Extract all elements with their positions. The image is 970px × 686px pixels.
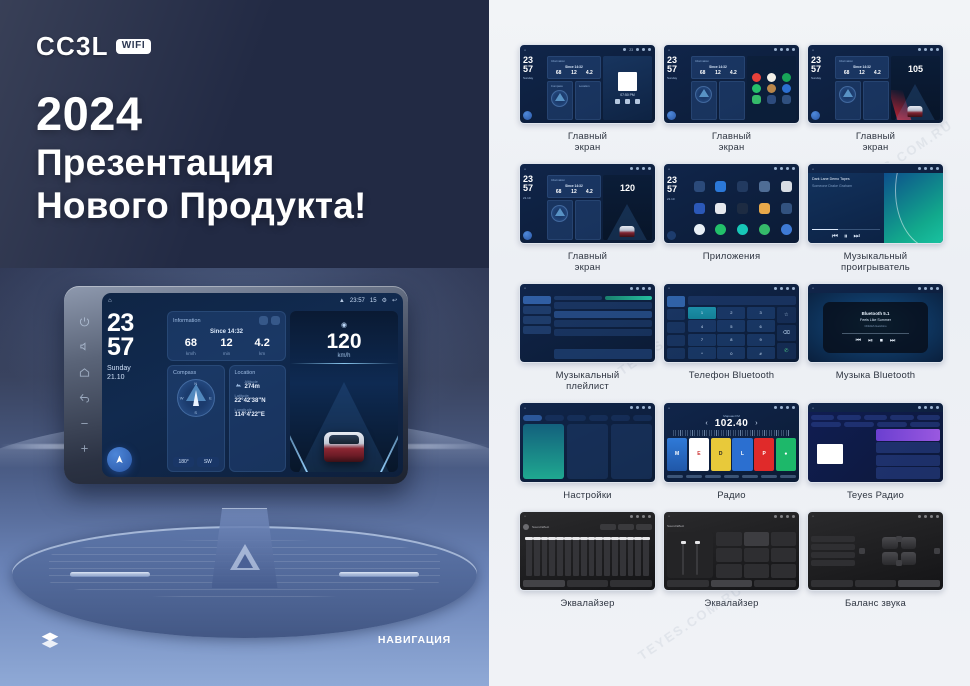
mini-compass bbox=[551, 90, 568, 107]
app-icon-chrome[interactable] bbox=[767, 73, 776, 82]
mini-transport-controls[interactable] bbox=[615, 99, 640, 104]
list-item bbox=[554, 302, 652, 309]
mini-info-title: Information bbox=[551, 59, 597, 63]
equalizer-header: Sound Effect bbox=[667, 524, 796, 528]
mini-stat-3: 4.2 bbox=[582, 189, 597, 195]
key-4[interactable]: 4 bbox=[688, 320, 716, 332]
key-7[interactable]: 7 bbox=[688, 334, 716, 346]
mini-stat-3: 4.2 bbox=[726, 70, 741, 76]
player-controls[interactable]: ⏮ ⏸ ⏭ bbox=[808, 233, 884, 241]
thumbnail-image[interactable]: ⌂ Bluetooth 5.1 Feels Like Summer Childi… bbox=[807, 283, 944, 363]
equalizer-header: Sound Effect bbox=[523, 524, 652, 530]
band-slider bbox=[643, 537, 649, 576]
equalizer-tabs[interactable] bbox=[667, 580, 796, 587]
mini-since: Since 14:32 bbox=[695, 65, 741, 69]
sidebar-item-artists bbox=[523, 316, 551, 324]
mini-info-title: Information bbox=[695, 59, 741, 63]
mountain-icon bbox=[235, 381, 242, 388]
dialpad[interactable]: 123 456 789 *0# bbox=[688, 307, 775, 359]
thumbnail-image[interactable]: ⌂ Sound Effect bbox=[663, 511, 800, 591]
mini-clock: 23 bbox=[629, 48, 633, 52]
mini-nav-fab[interactable] bbox=[667, 111, 676, 120]
compass-direction: SW bbox=[197, 457, 218, 467]
status-home-icon[interactable]: ⌂ bbox=[108, 298, 112, 304]
product-logo: CC3L WIFI bbox=[36, 33, 151, 59]
location-longitude-row: Longitude 114°4'22"E bbox=[235, 407, 281, 418]
thumb-bluetooth-music[interactable]: ⌂ Bluetooth 5.1 Feels Like Summer Childi… bbox=[807, 283, 944, 392]
thumbnail-label: Эквалайзер bbox=[560, 598, 614, 609]
play-pause-icon[interactable]: ⏯ bbox=[868, 338, 873, 345]
now-playing-bar[interactable] bbox=[554, 349, 652, 359]
location-card-title: Location bbox=[235, 370, 256, 376]
thumb-music-player[interactable]: ⌂ Dark Lane Demo Tapes Someone Drake Gra… bbox=[807, 163, 944, 272]
radio-tuning-scale[interactable] bbox=[673, 430, 790, 436]
thumb-equalizer-presets[interactable]: ⌂ Sound Effect bbox=[663, 511, 800, 609]
information-card-title: Information bbox=[173, 318, 201, 324]
tab-fader bbox=[754, 580, 796, 587]
tile-wlan bbox=[523, 424, 564, 478]
car-3d-model bbox=[620, 226, 635, 237]
app-icon-wifi[interactable] bbox=[694, 181, 705, 192]
speed-value: 120 bbox=[326, 331, 361, 352]
app-icon-file-manager[interactable] bbox=[759, 203, 770, 214]
thumb-teyes-radio[interactable]: ⌂ Teyes Радио bbox=[807, 402, 944, 500]
thumb-home-screen-road[interactable]: ⌂ 23 57 Sunday Information Since 14:32 6… bbox=[807, 44, 944, 153]
phone-number-field[interactable] bbox=[688, 296, 796, 305]
mini-compass bbox=[839, 86, 856, 103]
effect-presets[interactable] bbox=[716, 532, 796, 578]
balance-up-icon[interactable] bbox=[896, 536, 902, 542]
mini-compass bbox=[551, 205, 568, 222]
speed-widget[interactable]: ◉ 120 km/h bbox=[290, 311, 398, 472]
bluetooth-panel: Bluetooth 5.1 Feels Like Summer Childish… bbox=[823, 302, 928, 353]
preset-classic[interactable] bbox=[716, 548, 741, 562]
information-refresh-icon[interactable] bbox=[259, 316, 268, 325]
mini-speed-value: 120 bbox=[620, 183, 635, 193]
clock-day: Sunday bbox=[107, 365, 163, 374]
key-6[interactable]: 6 bbox=[747, 320, 775, 332]
logo-model: CC3L bbox=[36, 33, 109, 59]
status-gear-icon[interactable]: ⚙ bbox=[382, 297, 387, 304]
band-slider bbox=[526, 537, 532, 576]
teyes-sub-nav[interactable] bbox=[811, 422, 940, 427]
prev-station-icon[interactable]: ‹ bbox=[705, 420, 707, 427]
balance-down-icon[interactable] bbox=[896, 560, 902, 566]
sidebar-item-dialpad bbox=[667, 296, 685, 307]
band-slider bbox=[573, 537, 579, 576]
key-9[interactable]: 9 bbox=[747, 334, 775, 346]
fader bbox=[682, 541, 684, 575]
pause-icon[interactable]: ⏸ bbox=[844, 233, 848, 241]
thumbnail-label: Приложения bbox=[703, 251, 761, 262]
player-track-title: Dark Lane Demo Tapes bbox=[812, 177, 880, 181]
mini-day: Sunday bbox=[667, 76, 689, 80]
balance-pad[interactable] bbox=[859, 537, 940, 565]
band-slider bbox=[549, 537, 555, 576]
location-card[interactable]: Location Altitude 274m Latitude bbox=[229, 365, 287, 472]
thumbnail-image[interactable]: ⌂ 23 57 21.10 Information Since 14:32 68… bbox=[519, 163, 656, 243]
favorite-icon[interactable]: ☆ bbox=[777, 307, 796, 323]
thumbnail-label: Баланс звука bbox=[845, 598, 906, 609]
app-icon-contacts[interactable] bbox=[715, 203, 726, 214]
thumbnail-label: Главный экран bbox=[568, 251, 607, 273]
navigation-arrow-icon bbox=[114, 454, 125, 465]
list-item bbox=[554, 329, 652, 336]
mini-since: Since 14:32 bbox=[551, 184, 597, 188]
thumbnail-label: Музыкальный плейлист bbox=[556, 370, 620, 392]
speed-icon: ◉ bbox=[341, 321, 347, 329]
information-card[interactable]: Information Since 14:32 68 km/h bbox=[167, 311, 286, 361]
app-icon-contacts[interactable] bbox=[767, 84, 776, 93]
key-2[interactable]: 2 bbox=[717, 307, 745, 319]
app-icon-play-store[interactable] bbox=[752, 95, 761, 104]
rail-volume-up-icon[interactable] bbox=[79, 443, 90, 454]
preset-rock[interactable] bbox=[744, 532, 769, 546]
equalizer-tabs[interactable] bbox=[811, 580, 940, 587]
thumbnail-image[interactable]: ⌂ 23 57 Sunday Information Since 14:32 6… bbox=[807, 44, 944, 124]
hero-panel: CC3L WIFI 2024 Презентация Нового Продук… bbox=[0, 0, 489, 686]
sidebar-item-tracks bbox=[523, 296, 551, 304]
thumbnail-label: Главный экран bbox=[568, 131, 607, 153]
information-card-header: Information bbox=[173, 316, 280, 325]
preset-flat[interactable] bbox=[744, 564, 769, 578]
list-item bbox=[876, 467, 940, 478]
mini-speed-widget[interactable]: 120 bbox=[603, 175, 652, 239]
compass-card-title: Compass bbox=[173, 370, 196, 376]
previous-icon[interactable]: ⏮ bbox=[832, 233, 838, 241]
balance-left-icon[interactable] bbox=[859, 548, 865, 554]
thumb-radio[interactable]: ⌂ Маршак FM ‹ 102.40 › M E D bbox=[663, 402, 800, 500]
sidebar-item-albums bbox=[523, 306, 551, 314]
mini-speed-value: 105 bbox=[908, 64, 923, 74]
preset-bass[interactable] bbox=[771, 564, 796, 578]
compass-card[interactable]: Compass N S W E 180° S bbox=[167, 365, 225, 472]
thumbnail-image[interactable]: ⌂ bbox=[807, 511, 944, 591]
thumbnail-label: Настройки bbox=[563, 490, 611, 501]
radio-toolbar[interactable] bbox=[667, 473, 796, 480]
list-item bbox=[811, 560, 855, 566]
preset-jazz[interactable] bbox=[771, 532, 796, 546]
compass-north: N bbox=[194, 381, 197, 386]
presentation-slide: CC3L WIFI 2024 Презентация Нового Продук… bbox=[0, 0, 970, 686]
preset-custom[interactable] bbox=[716, 564, 741, 578]
list-item bbox=[554, 320, 652, 327]
thumbnail-image[interactable]: ⌂ 123 456 789 *0# bbox=[663, 283, 800, 363]
app-icon-radio[interactable] bbox=[781, 224, 792, 235]
location-latitude-row: Latitude 22°42'38"N bbox=[235, 393, 281, 404]
navigation-fab[interactable] bbox=[107, 447, 132, 472]
rail-power-icon[interactable] bbox=[79, 316, 90, 327]
tile-hotspot bbox=[567, 424, 608, 478]
compass-readout: 180° SW bbox=[173, 457, 219, 467]
tab-fader bbox=[610, 580, 652, 587]
thumbnail-image[interactable]: ⌂ Sound Effect bbox=[519, 511, 656, 591]
key-8[interactable]: 8 bbox=[717, 334, 745, 346]
status-volume: 15 bbox=[370, 298, 377, 304]
app-icon-maps[interactable] bbox=[715, 224, 726, 235]
rail-home-icon[interactable] bbox=[79, 367, 90, 378]
app-icon-camera[interactable] bbox=[781, 181, 792, 192]
preset-chip bbox=[600, 524, 616, 530]
speed-unit: km/h bbox=[337, 353, 350, 359]
mini-since: Since 14:32 bbox=[839, 65, 885, 69]
thumbnail-image[interactable]: ⌂ Маршак FM ‹ 102.40 › M E D bbox=[663, 402, 800, 482]
mini-compass bbox=[695, 86, 712, 103]
head-unit: ⌂ ▲ 23:57 15 ⚙ ↩ 23 57 Sunday 21.10 bbox=[64, 286, 408, 484]
seat-front-right bbox=[901, 537, 917, 550]
call-icon[interactable]: ✆ bbox=[777, 343, 796, 359]
mini-minutes: 57 bbox=[811, 65, 833, 74]
rail-mute-icon[interactable] bbox=[79, 341, 90, 352]
settings-tiles[interactable] bbox=[523, 424, 652, 478]
thumbnail-image[interactable]: ⌂ bbox=[519, 283, 656, 363]
thumbnail-image[interactable]: ⌂ bbox=[807, 402, 944, 482]
mini-date: 21.10 bbox=[523, 196, 545, 200]
app-icon-grid[interactable] bbox=[782, 95, 791, 104]
band-slider bbox=[604, 537, 610, 576]
head-unit-screen[interactable]: ⌂ ▲ 23:57 15 ⚙ ↩ 23 57 Sunday 21.10 bbox=[102, 293, 403, 477]
balance-right-icon[interactable] bbox=[934, 548, 940, 554]
stat-distance: 4.2 km bbox=[244, 338, 280, 356]
app-icon-chrome[interactable] bbox=[694, 203, 705, 214]
playlist-main[interactable] bbox=[554, 296, 652, 359]
mini-widget-time: 07:50 PM bbox=[620, 93, 635, 97]
thumbnail-label: Эквалайзер bbox=[704, 598, 758, 609]
settings-tabs[interactable] bbox=[523, 415, 652, 421]
thumbnail-image[interactable]: ⌂ Dark Lane Demo Tapes Someone Drake Gra… bbox=[807, 163, 944, 243]
eq-title: Sound Effect bbox=[532, 525, 549, 529]
app-icon-gallery[interactable] bbox=[781, 203, 792, 214]
mini-compass-title: Compass bbox=[551, 84, 569, 88]
preset-3[interactable]: D bbox=[711, 438, 731, 470]
playlist-sidebar[interactable] bbox=[523, 296, 551, 359]
thumb-settings[interactable]: ⌂ Настройки bbox=[519, 402, 656, 500]
sidebar-item-folders bbox=[523, 326, 551, 334]
balance-presets-list[interactable] bbox=[811, 536, 855, 566]
stat-distance-value: 4.2 bbox=[244, 338, 280, 349]
mini-day: Sunday bbox=[811, 76, 833, 80]
app-icon-spotify[interactable] bbox=[752, 84, 761, 93]
bluetooth-track-title: Feels Like Summer bbox=[860, 318, 891, 322]
compass-south: S bbox=[194, 410, 197, 415]
mini-day: Sunday bbox=[523, 76, 545, 80]
rail-volume-down-icon[interactable] bbox=[79, 418, 90, 429]
thumb-bluetooth-phone[interactable]: ⌂ 123 456 789 *0# bbox=[663, 283, 800, 392]
playlist-tabs[interactable] bbox=[554, 296, 652, 300]
mini-music-widget[interactable]: 07:50 PM bbox=[603, 56, 652, 120]
mini-stat-1: 68 bbox=[551, 70, 566, 76]
radio-frequency: 102.40 bbox=[715, 418, 749, 429]
thumbnail-image[interactable]: ⌂ bbox=[519, 402, 656, 482]
key-star[interactable]: * bbox=[688, 347, 716, 359]
logo-wifi-badge: WIFI bbox=[116, 39, 152, 54]
mini-minutes: 57 bbox=[667, 65, 689, 74]
thumb-home-screen-music[interactable]: ⌂23 23 57 Sunday Information Since 14:32… bbox=[519, 44, 656, 153]
teyes-station-list[interactable] bbox=[876, 429, 940, 478]
headline-line-1: Презентация bbox=[36, 141, 367, 185]
preset-vocal[interactable] bbox=[744, 548, 769, 562]
key-1[interactable]: 1 bbox=[688, 307, 716, 319]
rail-back-icon[interactable] bbox=[79, 392, 90, 403]
preset-chip bbox=[618, 524, 634, 530]
tab-sound bbox=[545, 415, 564, 421]
mini-nav-fab[interactable] bbox=[523, 231, 532, 240]
band-slider bbox=[557, 537, 563, 576]
app-icon-music-player[interactable] bbox=[737, 224, 748, 235]
app-icon-dvr[interactable] bbox=[737, 203, 748, 214]
player-info: Dark Lane Demo Tapes Someone Drake Graha… bbox=[808, 173, 884, 242]
band-slider bbox=[620, 537, 626, 576]
gallery-grid: ⌂23 23 57 Sunday Information Since 14:32… bbox=[519, 44, 944, 609]
stat-distance-unit: km bbox=[244, 351, 280, 356]
thumb-home-screen-speed[interactable]: ⌂ 23 57 21.10 Information Since 14:32 68… bbox=[519, 163, 656, 272]
headline-year: 2024 bbox=[36, 88, 367, 141]
information-since: Since 14:32 bbox=[173, 329, 280, 335]
thumb-equalizer-bands[interactable]: ⌂ Sound Effect Эквалайзер bbox=[519, 511, 656, 609]
radio-frequency-row: ‹ 102.40 › bbox=[667, 418, 796, 429]
information-expand-icon[interactable] bbox=[271, 316, 280, 325]
mini-location-title: Location bbox=[579, 84, 597, 88]
preset-2[interactable]: E bbox=[689, 438, 709, 470]
app-icon-bluetooth[interactable] bbox=[715, 181, 726, 192]
app-icon-gallery[interactable] bbox=[767, 95, 776, 104]
teyes-top-nav[interactable] bbox=[811, 415, 940, 420]
thumbnail-image[interactable]: ⌂ 23 57 21.10 bbox=[663, 163, 800, 243]
app-icon-bluetooth-music[interactable] bbox=[737, 181, 748, 192]
thumbnail-label: Музыкальный проигрыватель bbox=[841, 251, 910, 273]
key-3[interactable]: 3 bbox=[747, 307, 775, 319]
layers-icon[interactable] bbox=[40, 630, 60, 650]
hazard-triangle-icon bbox=[230, 544, 260, 570]
player-progress-bar[interactable] bbox=[812, 229, 880, 230]
mini-minutes: 57 bbox=[667, 185, 686, 194]
lower-widgets-row: Compass N S W E 180° S bbox=[167, 365, 286, 472]
preset-pop[interactable] bbox=[716, 532, 741, 546]
mini-minutes: 57 bbox=[523, 184, 545, 193]
equalizer-tabs[interactable] bbox=[523, 580, 652, 587]
mini-stat-2: 12 bbox=[710, 70, 725, 76]
key-hash[interactable]: # bbox=[747, 347, 775, 359]
next-icon[interactable]: ⏭ bbox=[854, 233, 860, 241]
mini-nav-fab[interactable] bbox=[523, 111, 532, 120]
sidebar-item-settings bbox=[667, 348, 685, 359]
preset-1[interactable]: M bbox=[667, 438, 687, 470]
app-icon-settings[interactable] bbox=[782, 84, 791, 93]
status-clock: 23:57 bbox=[350, 298, 365, 304]
tab-system bbox=[589, 415, 608, 421]
compass-west: W bbox=[180, 396, 184, 401]
navigation-label: НАВИГАЦИЯ bbox=[378, 634, 451, 646]
preset-4[interactable]: L bbox=[732, 438, 752, 470]
thumb-sound-balance[interactable]: ⌂ bbox=[807, 511, 944, 609]
mini-apps-widget[interactable] bbox=[747, 56, 796, 120]
car-3d-model bbox=[908, 106, 923, 117]
head-unit-side-rail[interactable] bbox=[71, 293, 97, 477]
dial-actions[interactable]: ☆ ⌫ ✆ bbox=[777, 307, 796, 359]
mini-stat-2: 12 bbox=[854, 70, 869, 76]
headline-line-2: Нового Продукта! bbox=[36, 184, 367, 228]
tab-effect bbox=[567, 580, 609, 587]
tab-update bbox=[633, 415, 652, 421]
vent-slot-left bbox=[70, 572, 150, 577]
status-wifi-icon: ▲ bbox=[339, 298, 345, 304]
band-slider bbox=[612, 537, 618, 576]
bluetooth-version-label: Bluetooth 5.1 bbox=[862, 311, 890, 316]
mini-stat-1: 68 bbox=[695, 70, 710, 76]
bass-treble-faders[interactable] bbox=[667, 532, 713, 578]
eq-preset-chips[interactable] bbox=[600, 524, 652, 530]
phone-sidebar[interactable] bbox=[667, 296, 685, 359]
mini-stat-3: 4.2 bbox=[582, 70, 597, 76]
list-item bbox=[811, 544, 855, 550]
app-icon-play-store[interactable] bbox=[759, 224, 770, 235]
thumbnail-image[interactable]: ⌂23 23 57 Sunday Information Since 14:32… bbox=[519, 44, 656, 124]
mini-back-fab[interactable] bbox=[667, 231, 676, 240]
sidebar-item-search bbox=[667, 322, 685, 333]
stop-icon[interactable]: ⏹ bbox=[880, 338, 883, 345]
radio-presets[interactable]: M E D L P ● bbox=[667, 438, 796, 470]
tab-eq bbox=[667, 580, 709, 587]
bluetooth-controls[interactable]: ⏮ ⏯ ⏹ ⏭ bbox=[856, 338, 896, 345]
next-icon[interactable]: ⏭ bbox=[890, 338, 895, 345]
thumb-music-playlist[interactable]: ⌂ Музыкальный плейлист bbox=[519, 283, 656, 392]
key-5[interactable]: 5 bbox=[717, 320, 745, 332]
thumb-applications[interactable]: ⌂ 23 57 21.10 bbox=[663, 163, 800, 272]
status-back-icon[interactable]: ↩ bbox=[392, 297, 397, 304]
teyes-album-art bbox=[811, 429, 850, 478]
app-icon-private[interactable] bbox=[694, 224, 705, 235]
thumb-home-screen-apps[interactable]: ⌂ 23 57 Sunday Information Since 14:32 6… bbox=[663, 44, 800, 153]
mini-stat-2: 12 bbox=[566, 70, 581, 76]
list-item bbox=[876, 429, 940, 440]
bluetooth-progress-bar[interactable] bbox=[842, 333, 909, 334]
previous-icon[interactable]: ⏮ bbox=[856, 338, 861, 345]
applications-grid[interactable] bbox=[689, 176, 796, 239]
compass-east: E bbox=[209, 396, 212, 401]
tab-wifi bbox=[523, 415, 542, 421]
tab-display bbox=[567, 415, 586, 421]
thumbnail-label: Радио bbox=[717, 490, 745, 501]
backspace-icon[interactable]: ⌫ bbox=[777, 325, 796, 341]
mini-road-widget[interactable]: 105 bbox=[891, 56, 940, 120]
fader bbox=[696, 541, 698, 575]
tab-eq bbox=[523, 580, 565, 587]
mini-nav-fab[interactable] bbox=[811, 111, 820, 120]
next-station-icon[interactable]: › bbox=[755, 420, 757, 427]
preset-dance[interactable] bbox=[771, 548, 796, 562]
preset-5[interactable]: P bbox=[754, 438, 774, 470]
key-0[interactable]: 0 bbox=[717, 347, 745, 359]
bluetooth-artist: Childish Gambino bbox=[864, 324, 886, 328]
album-art bbox=[618, 72, 637, 91]
mini-minutes: 57 bbox=[523, 65, 545, 74]
equalizer-bands[interactable] bbox=[523, 532, 652, 580]
preset-6[interactable]: ● bbox=[776, 438, 796, 470]
stat-duration: 12 min bbox=[209, 338, 245, 356]
app-icon-youtube[interactable] bbox=[752, 73, 761, 82]
player-visualizer bbox=[884, 173, 943, 242]
mini-info-title: Information bbox=[839, 59, 885, 63]
list-item bbox=[876, 455, 940, 466]
mini-date: 21.10 bbox=[667, 197, 686, 201]
eq-icon bbox=[523, 524, 529, 530]
thumbnail-label: Телефон Bluetooth bbox=[689, 370, 775, 381]
thumbnail-label: Главный экран bbox=[712, 131, 751, 153]
thumbnail-image[interactable]: ⌂ 23 57 Sunday Information Since 14:32 6… bbox=[663, 44, 800, 124]
list-item bbox=[811, 552, 855, 558]
app-icon-maps[interactable] bbox=[782, 73, 791, 82]
app-icon-calculator[interactable] bbox=[759, 181, 770, 192]
